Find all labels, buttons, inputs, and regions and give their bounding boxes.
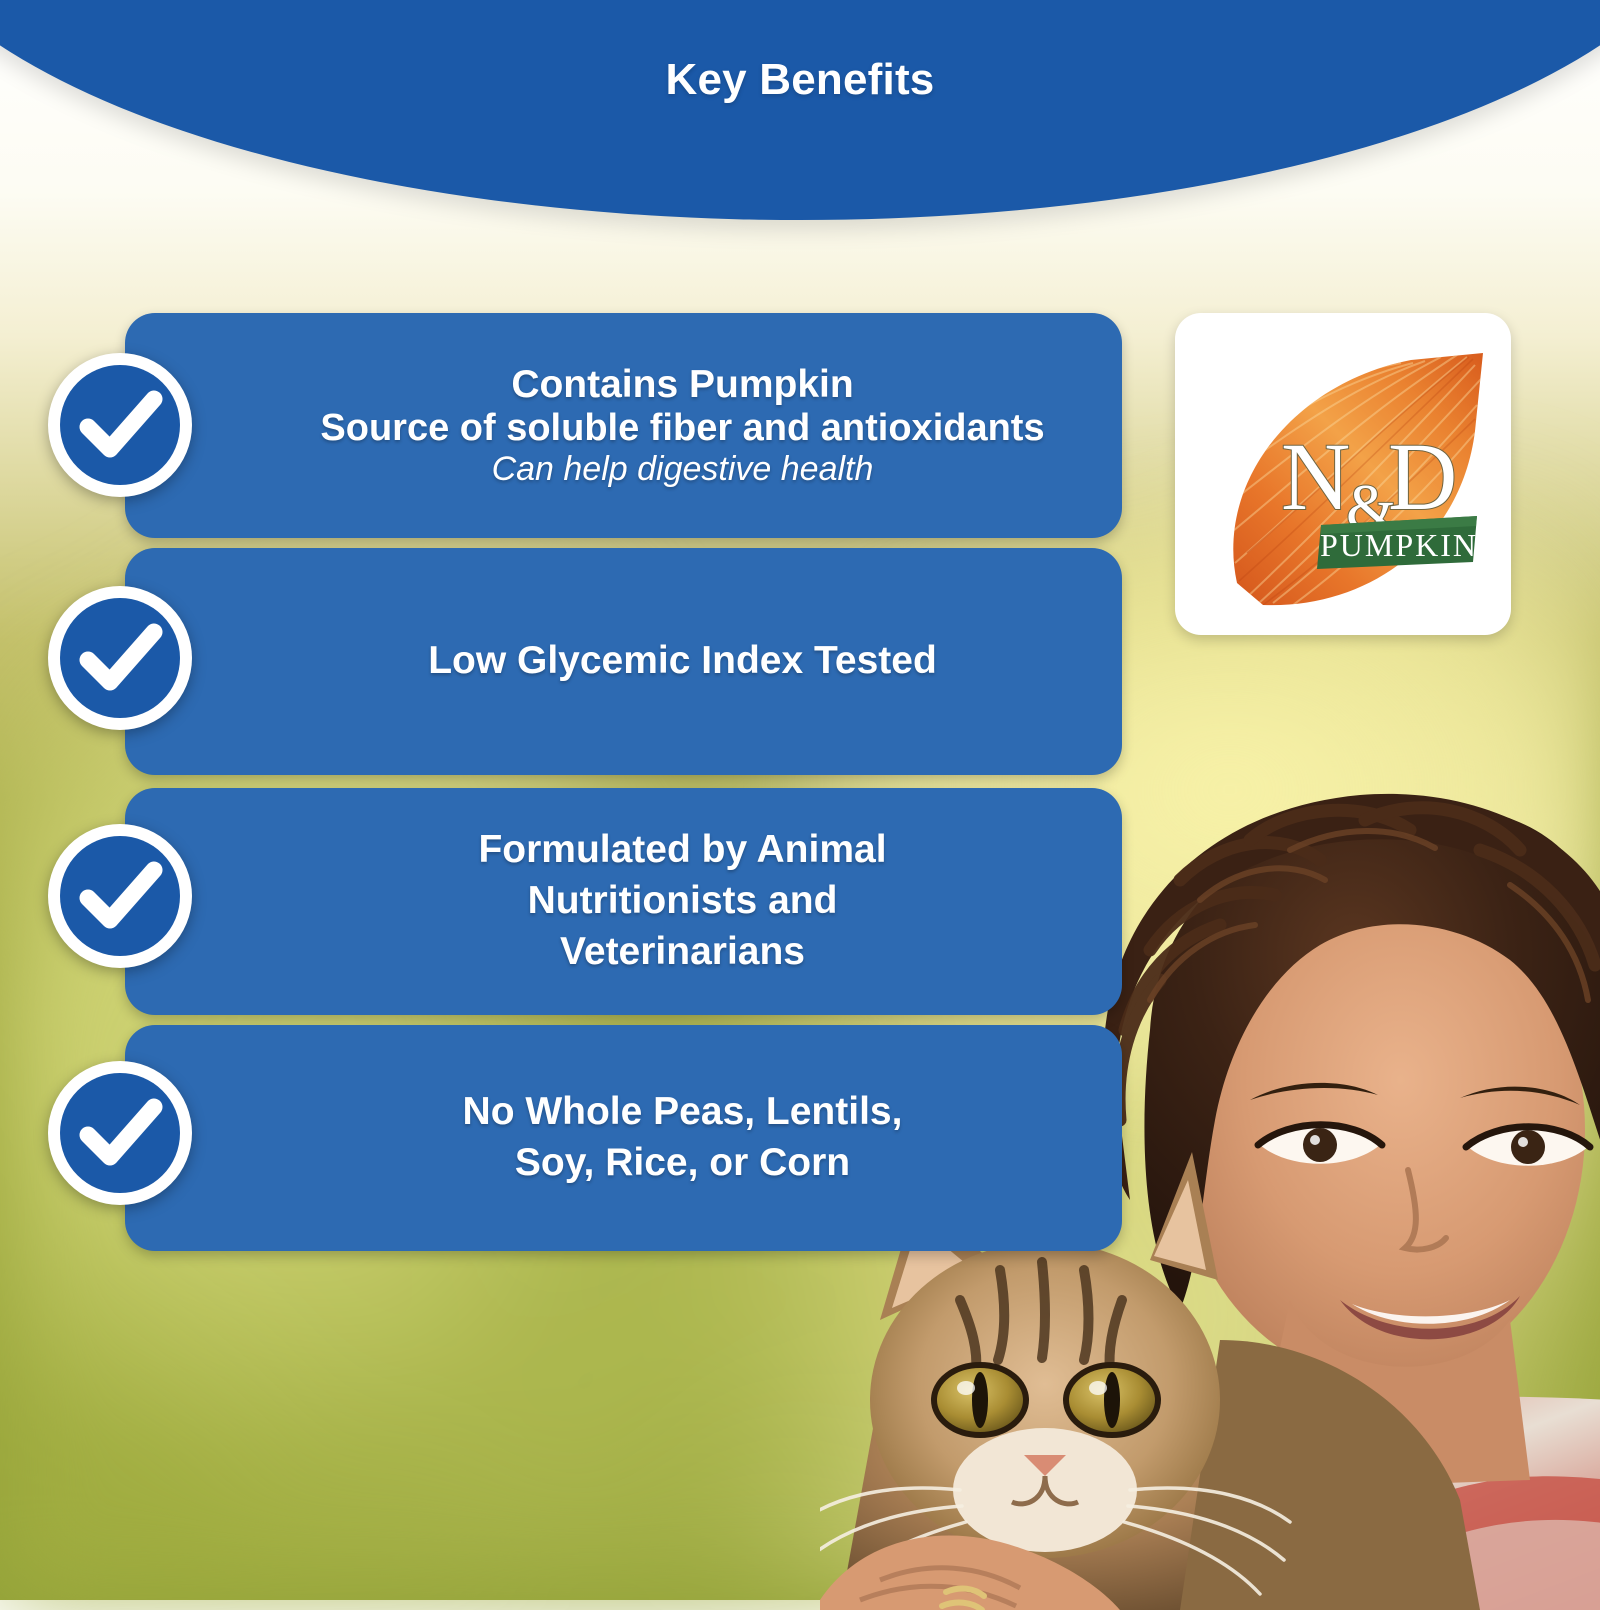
- check-circle-icon: [42, 580, 198, 736]
- check-circle-icon: [42, 1055, 198, 1211]
- benefit-subheading: Source of soluble fiber and antioxidants: [263, 407, 1103, 450]
- benefit-note: Can help digestive health: [263, 450, 1103, 488]
- check-circle-icon: [42, 347, 198, 503]
- benefit-card-text: Contains Pumpkin Source of soluble fiber…: [263, 363, 1103, 488]
- benefit-heading: Low Glycemic Index Tested: [263, 639, 1103, 683]
- svg-text:PUMPKIN: PUMPKIN: [1320, 527, 1478, 563]
- benefit-card-text: Formulated by Animal Nutritionists and V…: [263, 825, 1103, 977]
- benefit-card-text: No Whole Peas, Lentils, Soy, Rice, or Co…: [263, 1087, 1103, 1188]
- benefit-heading-line-1: No Whole Peas, Lentils,: [263, 1087, 1103, 1138]
- nd-pumpkin-logo-card: N & D PUMPKIN: [1175, 313, 1511, 635]
- benefit-card-no-fillers: No Whole Peas, Lentils, Soy, Rice, or Co…: [125, 1025, 1122, 1251]
- benefit-heading-line-1: Formulated by Animal: [263, 825, 1103, 876]
- check-circle-icon: [42, 818, 198, 974]
- benefit-heading-line-2: Soy, Rice, or Corn: [263, 1138, 1103, 1189]
- benefit-heading: Contains Pumpkin: [263, 363, 1103, 407]
- page-title: Key Benefits: [0, 55, 1600, 105]
- svg-text:D: D: [1388, 423, 1457, 530]
- benefit-heading-line-2: Nutritionists and: [263, 876, 1103, 927]
- svg-text:N: N: [1281, 423, 1350, 530]
- benefit-heading-line-3: Veterinarians: [263, 927, 1103, 978]
- benefit-card-low-glycemic-index: Low Glycemic Index Tested: [125, 548, 1122, 775]
- benefit-card-formulated-by-experts: Formulated by Animal Nutritionists and V…: [125, 788, 1122, 1015]
- benefit-card-text: Low Glycemic Index Tested: [263, 639, 1103, 683]
- benefit-card-contains-pumpkin: Contains Pumpkin Source of soluble fiber…: [125, 313, 1122, 538]
